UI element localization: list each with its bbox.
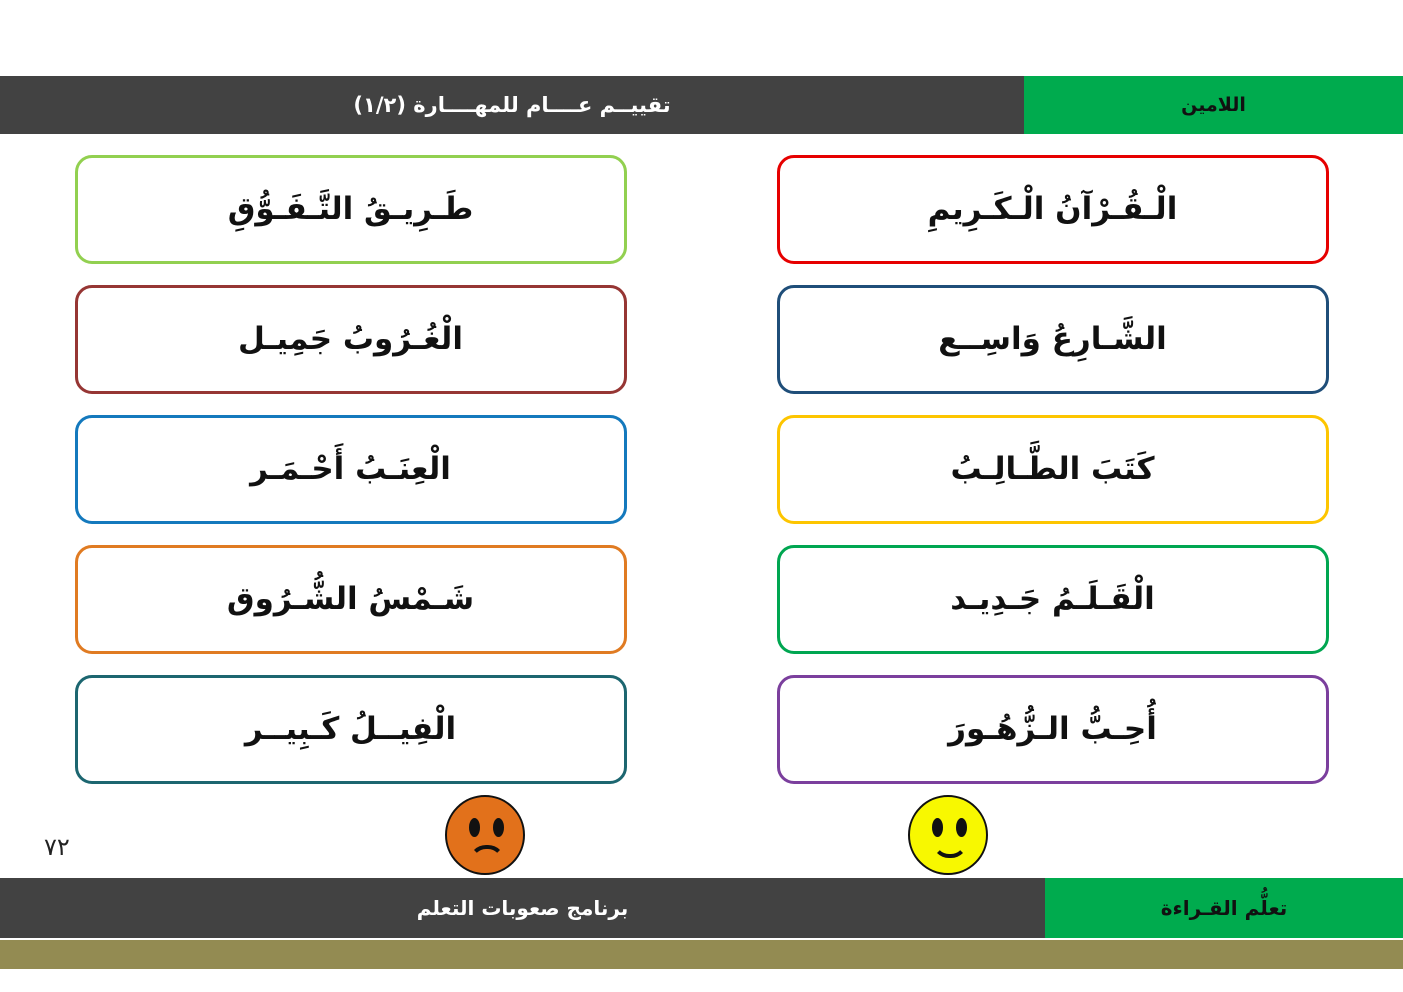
page-footer: تعلُّم القـراءة برنامج صعوبات التعلم [0,878,1403,938]
worksheet-page: اللامين تقييــم عــــام للمهــــارة (١/٢… [0,0,1403,992]
page-header: اللامين تقييــم عــــام للمهــــارة (١/٢… [0,76,1403,134]
card-row: كَتَبَ الطَّـالِـبُ الْعِنَـبُ أَحْـمَـر [0,415,1403,524]
eye-left [469,818,480,837]
sentence-card[interactable]: الْعِنَـبُ أَحْـمَـر [75,415,627,524]
sentence-card[interactable]: الْقَـلَـمُ جَـدِيـد [777,545,1329,654]
sentence-text: الْـقُـرْآنُ الْـكَـرِيمِ [910,189,1196,229]
footer-dark-panel: برنامج صعوبات التعلم [0,878,1045,938]
sentence-text: أُحِـبُّ الـزُّهُـورَ [930,709,1175,749]
smile-mouth [932,841,968,858]
sentence-text: الْقَـلَـمُ جَـدِيـد [932,579,1173,619]
page-number: ٧٢ [44,833,70,861]
header-green-label: اللامين [1181,94,1246,116]
sentence-card[interactable]: شَـمْسُ الشُّـرُوق [75,545,627,654]
sentence-text: الْغُـرُوبُ جَمِيـل [220,319,481,359]
sentence-text: الشَّـارِعُ وَاسِــع [920,319,1185,359]
card-row: أُحِـبُّ الـزُّهُـورَ الْفِيــلُ كَـبِيـ… [0,675,1403,784]
sentence-text: كَتَبَ الطَّـالِـبُ [932,449,1172,489]
eye-right [493,818,504,837]
sentence-card[interactable]: الْغُـرُوبُ جَمِيـل [75,285,627,394]
sentence-text: الْعِنَـبُ أَحْـمَـر [232,449,469,489]
eye-left [932,818,943,837]
header-title-panel: تقييــم عــــام للمهــــارة (١/٢) [0,76,1024,134]
card-row: الْقَـلَـمُ جَـدِيـد شَـمْسُ الشُّـرُوق [0,545,1403,654]
sentence-text: طَـرِيـقُ التَّـفَـوُّقِ [210,189,492,229]
bottom-accent-strip [0,940,1403,969]
card-row: الْـقُـرْآنُ الْـكَـرِيمِ طَـرِيـقُ التَ… [0,155,1403,264]
card-row: الشَّـارِعُ وَاسِــع الْغُـرُوبُ جَمِيـل [0,285,1403,394]
sentence-card[interactable]: كَتَبَ الطَّـالِـبُ [777,415,1329,524]
sentence-text: الْفِيــلُ كَـبِيــر [227,709,474,749]
eye-right [956,818,967,837]
sentence-card[interactable]: أُحِـبُّ الـزُّهُـورَ [777,675,1329,784]
header-green-panel: اللامين [1024,76,1403,134]
page-title: تقييــم عــــام للمهــــارة (١/٢) [353,93,670,117]
sentence-card[interactable]: طَـرِيـقُ التَّـفَـوُّقِ [75,155,627,264]
sentence-text: شَـمْسُ الشُّـرُوق [209,579,492,619]
happy-face-icon[interactable] [908,795,988,875]
sentence-card-grid: الْـقُـرْآنُ الْـكَـرِيمِ طَـرِيـقُ التَ… [0,155,1403,784]
rating-faces [0,795,1403,875]
footer-program-label: برنامج صعوبات التعلم [417,896,629,920]
sentence-card[interactable]: الْـقُـرْآنُ الْـكَـرِيمِ [777,155,1329,264]
footer-green-label: تعلُّم القـراءة [1161,896,1288,920]
sentence-card[interactable]: الْفِيــلُ كَـبِيــر [75,675,627,784]
footer-green-panel: تعلُّم القـراءة [1045,878,1403,938]
sad-face-icon[interactable] [445,795,525,875]
sentence-card[interactable]: الشَّـارِعُ وَاسِــع [777,285,1329,394]
frown-mouth [469,845,505,862]
